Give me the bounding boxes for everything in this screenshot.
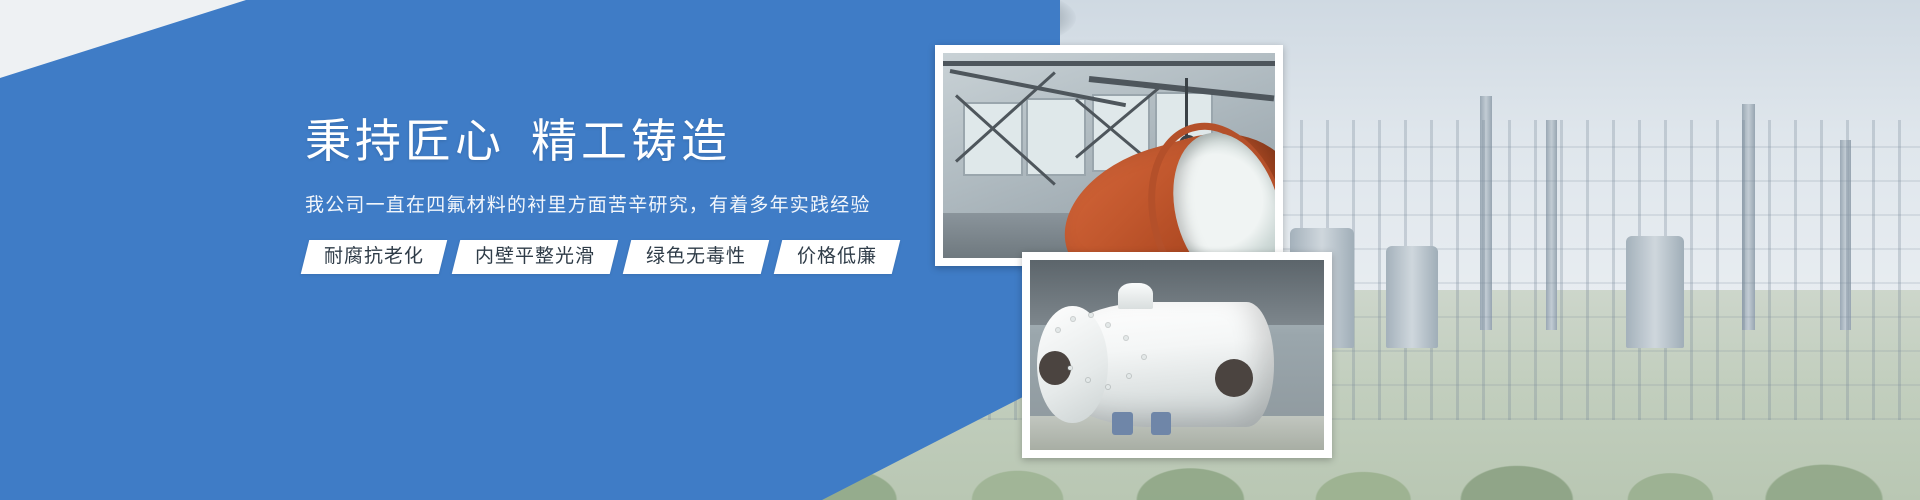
banner-subtitle: 我公司一直在四氟材料的衬里方面苦辛研究，有着多年实践经验 — [305, 190, 1005, 217]
feature-tag-label: 绿色无毒性 — [646, 240, 746, 274]
banner-copy: 秉持匠心精工铸造 我公司一直在四氟材料的衬里方面苦辛研究，有着多年实践经验 耐腐… — [305, 118, 1005, 274]
feature-tag-non-toxic[interactable]: 绿色无毒性 — [623, 240, 769, 274]
promo-banner: 秉持匠心精工铸造 我公司一直在四氟材料的衬里方面苦辛研究，有着多年实践经验 耐腐… — [0, 0, 1920, 500]
background-tank — [1626, 236, 1684, 348]
tank-bolt — [1089, 313, 1093, 317]
tank-support-foot — [1112, 412, 1133, 435]
feature-tag-low-price[interactable]: 价格低廉 — [774, 240, 900, 274]
feature-tag-label: 价格低廉 — [797, 240, 877, 274]
roof-truss-beam — [943, 61, 1275, 66]
feature-tag-label: 耐腐抗老化 — [324, 240, 424, 274]
tank-rear-nozzle — [1215, 359, 1253, 397]
product-photo-reactor-vessel-image — [943, 53, 1275, 258]
product-photo-white-tank-image — [1030, 260, 1324, 450]
background-tank — [1386, 246, 1438, 348]
tank-support-foot — [1151, 412, 1172, 435]
workshop-window — [963, 102, 1023, 176]
banner-title: 秉持匠心精工铸造 — [305, 118, 1005, 164]
tank-bolt — [1142, 355, 1146, 359]
feature-tag-label: 内壁平整光滑 — [475, 240, 595, 274]
feature-tag-smooth-inner-wall[interactable]: 内壁平整光滑 — [452, 240, 618, 274]
tank-bolt — [1127, 374, 1131, 378]
white-tank-top-nozzle — [1118, 283, 1153, 310]
feature-tag-corrosion-resistant[interactable]: 耐腐抗老化 — [301, 240, 447, 274]
banner-title-part-2: 精工铸造 — [531, 115, 731, 167]
product-photo-white-tank[interactable] — [1022, 252, 1332, 458]
product-photo-reactor-vessel[interactable] — [935, 45, 1283, 266]
feature-tag-list: 耐腐抗老化 内壁平整光滑 绿色无毒性 价格低廉 — [305, 240, 1005, 274]
tank-bolt — [1086, 378, 1090, 382]
banner-title-part-1: 秉持匠心 — [305, 115, 505, 167]
